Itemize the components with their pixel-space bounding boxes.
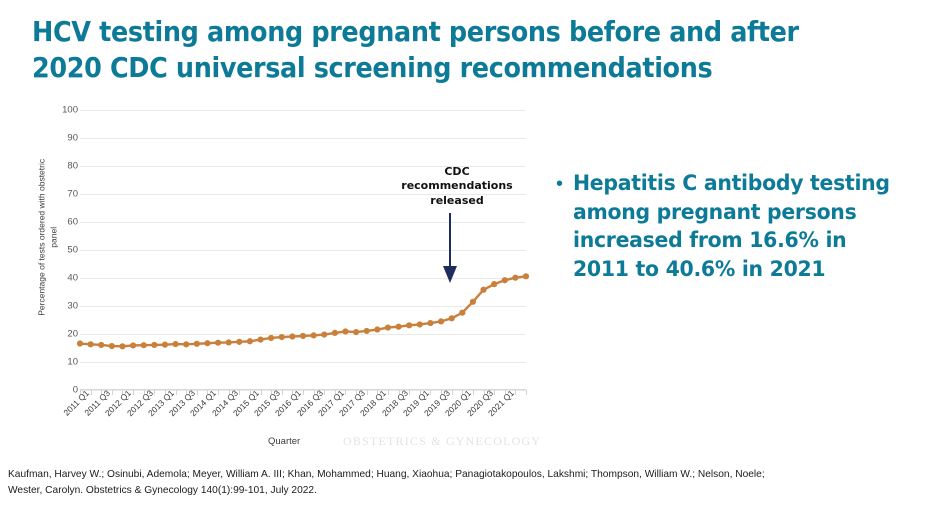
data-point	[406, 322, 412, 328]
data-point	[226, 339, 232, 345]
bullet-text: Hepatitis C antibody testing among pregn…	[573, 170, 906, 284]
data-point	[98, 342, 104, 348]
citation-line-1: Kaufman, Harvey W.; Osinubi, Ademola; Me…	[8, 466, 896, 482]
data-point	[172, 341, 178, 347]
citation-line-2: Wester, Carolyn. Obstetrics & Gynecology…	[8, 482, 896, 498]
data-point	[130, 342, 136, 348]
data-point	[109, 343, 115, 349]
data-point	[374, 326, 380, 332]
data-point	[119, 343, 125, 349]
y-tick-label: 90	[48, 133, 78, 144]
data-point	[247, 338, 253, 344]
y-tick-label: 100	[48, 105, 78, 116]
x-tick	[526, 390, 527, 395]
journal-watermark: OBSTETRICS & GYNECOLOGY	[343, 434, 541, 449]
y-tick-label: 50	[48, 245, 78, 256]
citation: Kaufman, Harvey W.; Osinubi, Ademola; Me…	[8, 466, 896, 499]
data-point	[236, 339, 242, 345]
key-finding-bullet: • Hepatitis C antibody testing among pre…	[556, 170, 924, 284]
data-point	[353, 329, 359, 335]
y-tick-label: 40	[48, 273, 78, 284]
data-point	[512, 275, 518, 281]
data-point	[459, 310, 465, 316]
y-tick-label: 30	[48, 301, 78, 312]
data-point	[311, 332, 317, 338]
data-point	[215, 340, 221, 346]
data-point	[342, 328, 348, 334]
data-point	[204, 340, 210, 346]
data-point	[257, 337, 263, 343]
y-tick-label: 70	[48, 189, 78, 200]
y-tick-label: 10	[48, 357, 78, 368]
data-point	[395, 324, 401, 330]
data-point	[385, 324, 391, 330]
data-point	[77, 340, 83, 346]
data-point	[417, 321, 423, 327]
data-point	[427, 320, 433, 326]
data-point	[88, 341, 94, 347]
page-title: HCV testing among pregnant persons befor…	[32, 14, 824, 86]
chart-panel: Percentage of tests ordered with obstetr…	[18, 100, 538, 465]
bullet-marker-icon: •	[556, 170, 563, 284]
cdc-annotation-label: CDC recommendations released	[401, 165, 513, 208]
data-point	[141, 342, 147, 348]
data-point	[364, 328, 370, 334]
data-point	[449, 315, 455, 321]
y-tick-label: 20	[48, 329, 78, 340]
data-point	[183, 341, 189, 347]
data-point	[332, 330, 338, 336]
data-point	[438, 318, 444, 324]
x-axis-title: Quarter	[268, 436, 300, 447]
data-point	[523, 273, 529, 279]
data-point	[480, 287, 486, 293]
data-point	[268, 335, 274, 341]
data-point	[470, 299, 476, 305]
data-point	[491, 281, 497, 287]
data-point	[194, 341, 200, 347]
cdc-annotation-arrow-icon	[414, 213, 486, 287]
data-point	[151, 342, 157, 348]
data-point	[502, 277, 508, 283]
y-tick-label: 60	[48, 217, 78, 228]
y-tick-label: 80	[48, 161, 78, 172]
data-point	[321, 331, 327, 337]
data-point	[279, 334, 285, 340]
data-point	[289, 333, 295, 339]
data-point	[300, 333, 306, 339]
data-point	[162, 342, 168, 348]
